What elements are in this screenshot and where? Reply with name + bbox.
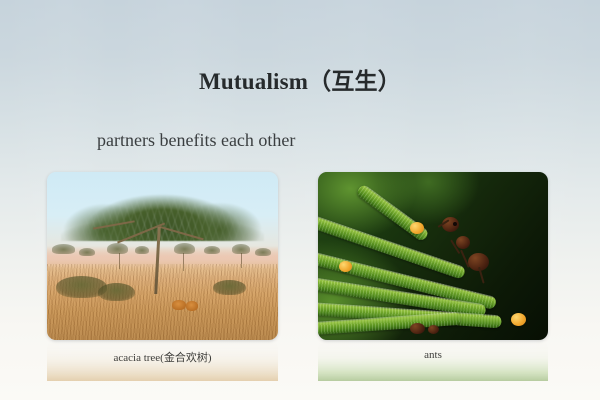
ants-reflection: [318, 341, 548, 381]
slide-canvas: Mutualism（互生） partners benefits each oth…: [0, 0, 600, 400]
ants-image[interactable]: [318, 172, 548, 340]
distant-tree: [174, 243, 195, 255]
distant-tree: [107, 243, 128, 255]
lion: [186, 301, 199, 310]
distant-tree: [79, 248, 95, 256]
ant-secondary-body: [410, 323, 425, 334]
distant-tree: [135, 246, 149, 254]
subtitle-text: partners benefits each other: [97, 130, 295, 151]
ant-secondary-head: [428, 325, 439, 334]
ant-thorax: [456, 236, 470, 249]
lion: [172, 300, 186, 310]
foreground-shrub: [98, 283, 135, 301]
figure-acacia-tree[interactable]: acacia tree(金合欢树): [47, 172, 278, 381]
distant-tree: [255, 248, 271, 256]
ant-macro-scene: [318, 172, 548, 340]
acacia-tree-caption: acacia tree(金合欢树): [47, 349, 278, 365]
savanna-scene: [47, 172, 278, 340]
foreground-shrub: [213, 280, 245, 295]
beltian-body: [511, 313, 526, 326]
acacia-tree-image[interactable]: [47, 172, 278, 340]
figure-ants[interactable]: ants: [318, 172, 548, 381]
distant-tree: [52, 244, 75, 254]
acacia-canopy: [61, 185, 264, 240]
page-title: Mutualism（互生）: [0, 62, 600, 96]
ants-caption: ants: [318, 349, 548, 361]
distant-tree: [204, 246, 220, 254]
beltian-body: [339, 261, 352, 272]
ant-head: [442, 217, 459, 232]
